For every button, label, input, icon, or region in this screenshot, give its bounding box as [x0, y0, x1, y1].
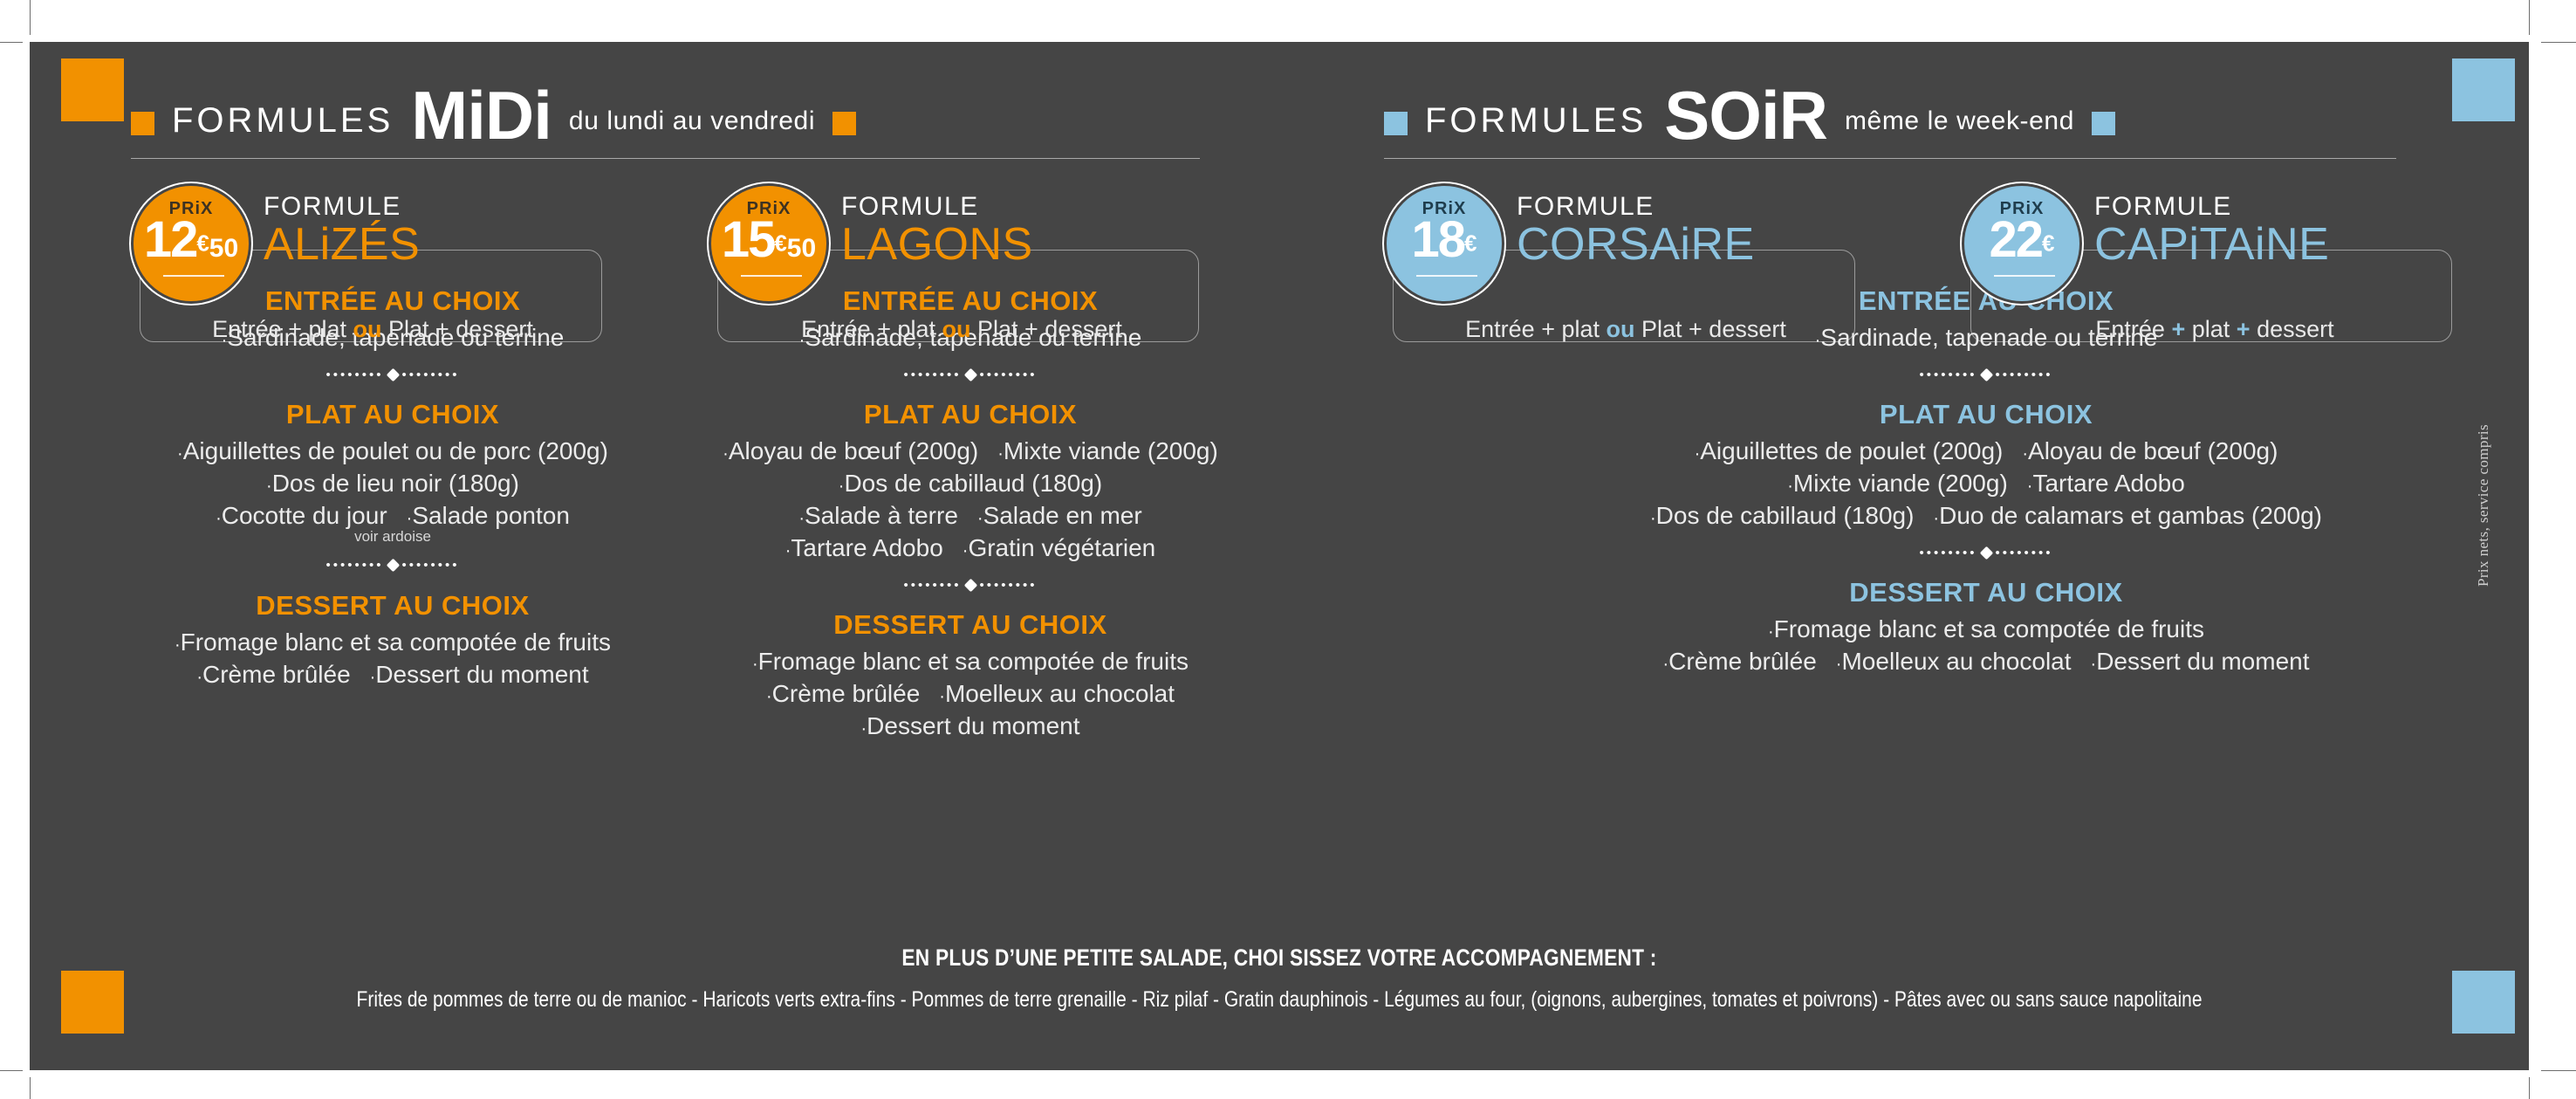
formula-card-title: FORMULE LAGONS [841, 192, 1033, 269]
menu-item: Salade en mer [983, 502, 1142, 529]
price-badge: PRiX 15€50 [709, 183, 829, 304]
menu-item-note: voir ardoise [131, 529, 654, 546]
menu-section-heading: PLAT AU CHOIX [131, 398, 654, 430]
divider-dots-right: •••••••• [1996, 546, 2053, 560]
divider-dots-right: •••••••• [980, 368, 1038, 381]
bullet-icon: · [216, 509, 222, 528]
menu-item: Cocotte du jour [222, 502, 387, 529]
menu-section-heading: DESSERT AU CHOIX [131, 589, 654, 622]
formula-label: FORMULE [2094, 192, 2329, 221]
price-badge-amount: 22€ [1964, 215, 2079, 265]
menu-column-alizes: ENTRÉE AU CHOIX·Sardinade, tapenade ou t… [131, 285, 654, 743]
menu-item: Dos de cabillaud (180g) [1656, 502, 1915, 529]
price-badge-underline [741, 275, 802, 277]
menu-line: ·Aiguillettes de poulet ou de porc (200g… [131, 436, 654, 468]
legal-note: Prix nets, service compris [2475, 377, 2492, 587]
square-marker-icon [1384, 112, 1408, 135]
bullet-icon: · [798, 509, 805, 528]
price-integer: 22 [1990, 211, 2043, 268]
formula-name: ALiZÉS [264, 221, 420, 269]
divider-lozenge-icon [963, 578, 977, 592]
square-marker-icon [2092, 112, 2115, 135]
menu-line: ·Fromage blanc et sa compotée de fruits [131, 627, 654, 659]
formula-desc-post: Plat + dessert [382, 316, 533, 342]
menu-section-heading: PLAT AU CHOIX [1435, 398, 2537, 430]
menu-line: ·Tartare Adobo·Gratin végétarien [709, 532, 1232, 565]
formula-card-title: FORMULE CAPiTAiNE [2094, 192, 2329, 269]
euro-icon: € [196, 230, 209, 257]
section-midi: FORMULES MiDi du lundi au vendredi PRiX … [131, 80, 1335, 743]
divider-dots-right: •••••••• [1996, 368, 2053, 381]
bullet-icon: · [1650, 509, 1656, 528]
divider-dots-right: •••••••• [402, 368, 460, 381]
formula-desc-mid: plat [2185, 316, 2237, 342]
menu-line: ·Crème brûlée·Moelleux au chocolat [709, 678, 1232, 711]
section-midi-title: MiDi [411, 86, 552, 145]
formula-card-title: FORMULE ALiZÉS [264, 192, 420, 269]
formula-desc-connector: ou [353, 316, 382, 342]
formula-name: LAGONS [841, 221, 1033, 269]
menu-item: Crème brûlée [202, 661, 351, 688]
divider-lozenge-icon [386, 559, 400, 573]
bullet-icon: · [723, 444, 729, 464]
section-soir-when: même le week-end [1845, 106, 2074, 136]
bullet-icon: · [177, 444, 183, 464]
crop-mark-top-left-v [30, 0, 31, 35]
menu-line: ·Fromage blanc et sa compotée de fruits [709, 646, 1232, 678]
square-marker-icon [131, 112, 154, 135]
menu-item: Dos de lieu noir (180g) [272, 470, 519, 497]
formula-desc-pre: Entrée [2095, 316, 2171, 342]
formula-desc-pre: Entrée + plat [1465, 316, 1606, 342]
section-midi-menus: ENTRÉE AU CHOIX·Sardinade, tapenade ou t… [131, 285, 1335, 743]
formula-description: Entrée + plat ou Plat + dessert [728, 316, 1196, 343]
formula-desc-post: Plat + dessert [1635, 316, 1786, 342]
divider-dots-left: •••••••• [903, 579, 961, 592]
menu-item: Salade à terre [805, 502, 958, 529]
section-soir-menus: ENTRÉE AU CHOIX·Sardinade, tapenade ou t… [1384, 285, 2576, 678]
divider-dots-left: •••••••• [325, 368, 383, 381]
section-soir: FORMULES SOiR même le week-end PRiX 18€ … [1384, 80, 2576, 678]
section-soir-title: SOiR [1664, 86, 1827, 145]
bullet-icon: · [977, 509, 983, 528]
formula-desc-connector: ou [942, 316, 971, 342]
formula-description: Entrée + plat + dessert [1981, 316, 2449, 343]
menu-item: Dessert du moment [867, 712, 1079, 739]
crop-mark-bottom-right-h [2541, 1070, 2576, 1071]
bullet-icon: · [939, 687, 945, 706]
formula-desc-pre: Entrée + plat [801, 316, 942, 342]
footer-title: EN PLUS D’UNE PETITE SALADE, CHOI SISSEZ… [230, 943, 2329, 973]
crop-mark-bottom-left-h [0, 1070, 23, 1071]
divider-lozenge-icon [1979, 367, 1993, 381]
section-soir-rule [1384, 158, 2396, 159]
section-divider-ornament: •••••••••••••••• [131, 551, 654, 580]
menu-section-heading: DESSERT AU CHOIX [1435, 576, 2537, 608]
menu-line: ·Crème brûlée·Dessert du moment [131, 659, 654, 691]
price-badge-amount: 12€50 [134, 215, 249, 265]
section-divider-ornament: •••••••••••••••• [131, 360, 654, 389]
menu-item: Fromage blanc et sa compotée de fruits [758, 648, 1189, 675]
formula-label: FORMULE [264, 192, 420, 221]
menu-item: Moelleux au chocolat [1841, 648, 2071, 675]
price-badge: PRiX 18€ [1384, 183, 1504, 304]
divider-lozenge-icon [386, 367, 400, 381]
bullet-icon: · [997, 444, 1004, 464]
divider-dots-left: •••••••• [1919, 546, 1977, 560]
corner-accent-top-left [61, 58, 124, 121]
formula-desc-plus-2: + [2237, 316, 2251, 342]
menu-item: Fromage blanc et sa compotée de fruits [181, 628, 611, 656]
square-marker-icon [832, 112, 856, 135]
menu-item: Duo de calamars et gambas (200g) [1939, 502, 2322, 529]
price-cents: 50 [209, 234, 238, 263]
menu-line: ·Dos de cabillaud (180g)·Duo de calamars… [1435, 500, 2537, 532]
price-badge: PRiX 22€ [1962, 183, 2082, 304]
formula-name: CORSAiRE [1517, 221, 1755, 269]
section-midi-when: du lundi au vendredi [569, 106, 815, 136]
section-midi-header: FORMULES MiDi du lundi au vendredi [131, 80, 1335, 145]
price-integer: 18 [1412, 211, 1465, 268]
price-badge: PRiX 12€50 [131, 183, 251, 304]
section-midi-formules-label: FORMULES [172, 103, 394, 138]
price-badge-amount: 18€ [1387, 215, 1502, 265]
price-integer: 12 [144, 211, 197, 268]
menu-line: ·Salade à terre·Salade en mer [709, 500, 1232, 532]
formula-label: FORMULE [1517, 192, 1755, 221]
menu-item: Salade ponton [412, 502, 570, 529]
crop-mark-bottom-left-v [30, 1077, 31, 1099]
formula-card-title: FORMULE CORSAiRE [1517, 192, 1755, 269]
price-badge-amount: 15€50 [711, 215, 826, 265]
menu-line: ·Mixte viande (200g)·Tartare Adobo [1435, 468, 2537, 500]
formula-description: Entrée + plat ou Plat + dessert [150, 316, 595, 343]
menu-section-heading: PLAT AU CHOIX [709, 398, 1232, 430]
euro-icon: € [2042, 230, 2054, 257]
crop-mark-top-left-h [0, 42, 23, 43]
bullet-icon: · [766, 687, 772, 706]
menu-item: Aloyau de bœuf (200g) [2028, 437, 2278, 464]
divider-dots-right: •••••••• [402, 559, 460, 572]
formula-desc-post: dessert [2251, 316, 2334, 342]
bullet-icon: · [196, 668, 202, 687]
bullet-icon: · [1787, 477, 1793, 496]
divider-dots-left: •••••••• [1919, 368, 1977, 381]
footer: EN PLUS D’UNE PETITE SALADE, CHOI SISSEZ… [30, 943, 2529, 1014]
section-soir-formules-label: FORMULES [1425, 103, 1647, 138]
menu-item: Gratin végétarien [968, 534, 1155, 561]
section-midi-rule [131, 158, 1200, 159]
bullet-icon: · [266, 477, 272, 496]
divider-dots-right: •••••••• [980, 579, 1038, 592]
formula-description: Entrée + plat ou Plat + dessert [1403, 316, 1848, 343]
formula-desc-connector: ou [1607, 316, 1635, 342]
divider-lozenge-icon [963, 367, 977, 381]
section-divider-ornament: •••••••••••••••• [1435, 538, 2537, 567]
formula-desc-plus-1: + [2171, 316, 2185, 342]
menu-item: Fromage blanc et sa compotée de fruits [1774, 615, 2204, 642]
menu-section-heading: DESSERT AU CHOIX [709, 608, 1232, 641]
menu-column-soir: ENTRÉE AU CHOIX·Sardinade, tapenade ou t… [1435, 285, 2537, 678]
footer-accompaniments: Frites de pommes de terre ou de manioc -… [230, 986, 2329, 1014]
divider-dots-left: •••••••• [325, 559, 383, 572]
menu-item: Mixte viande (200g) [1004, 437, 1218, 464]
menu-item: Dos de cabillaud (180g) [844, 470, 1102, 497]
menu-item: Aiguillettes de poulet (200g) [1700, 437, 2003, 464]
formula-name: CAPiTAiNE [2094, 221, 2329, 269]
bullet-icon: · [175, 635, 181, 655]
section-divider-ornament: •••••••••••••••• [709, 360, 1232, 389]
crop-mark-top-right-h [2541, 42, 2576, 43]
menu-item: Dessert du moment [375, 661, 588, 688]
section-divider-ornament: •••••••••••••••• [709, 570, 1232, 600]
formula-desc-pre: Entrée + plat [212, 316, 353, 342]
corner-accent-bottom-left [61, 971, 124, 1034]
menu-line: ·Dos de lieu noir (180g) [131, 468, 654, 500]
menu-line: ·Aloyau de bœuf (200g)·Mixte viande (200… [709, 436, 1232, 468]
price-cents: 50 [787, 234, 816, 263]
euro-icon: € [774, 230, 786, 257]
menu-item: Aloyau de bœuf (200g) [729, 437, 978, 464]
price-integer: 15 [722, 211, 775, 268]
menu-item: Crème brûlée [1668, 648, 1817, 675]
menu-item: Tartare Adobo [2032, 470, 2184, 497]
menu-item: Crème brûlée [772, 680, 921, 707]
menu-item: Aiguillettes de poulet ou de porc (200g) [183, 437, 608, 464]
divider-dots-left: •••••••• [903, 368, 961, 381]
menu-page: FORMULES MiDi du lundi au vendredi PRiX … [0, 0, 2576, 1099]
formula-desc-post: Plat + dessert [971, 316, 1122, 342]
menu-column-lagons: ENTRÉE AU CHOIX·Sardinade, tapenade ou t… [709, 285, 1232, 743]
corner-accent-top-right [2452, 58, 2515, 121]
divider-lozenge-icon [1979, 546, 1993, 560]
formula-label: FORMULE [841, 192, 1033, 221]
menu-line: ·Dos de cabillaud (180g) [709, 468, 1232, 500]
bullet-icon: · [752, 655, 758, 674]
crop-mark-top-right-v [2529, 0, 2530, 35]
bullet-icon: · [1768, 622, 1774, 642]
menu-line: ·Fromage blanc et sa compotée de fruits [1435, 614, 2537, 646]
menu-item: Moelleux au chocolat [945, 680, 1175, 707]
crop-mark-bottom-right-v [2529, 1077, 2530, 1099]
section-soir-header: FORMULES SOiR même le week-end [1384, 80, 2576, 145]
menu-line: ·Dessert du moment [709, 711, 1232, 743]
price-badge-underline [1416, 275, 1477, 277]
menu-item: Dessert du moment [2096, 648, 2309, 675]
euro-icon: € [1464, 230, 1476, 257]
menu-item: Tartare Adobo [791, 534, 942, 561]
menu-item: Mixte viande (200g) [1793, 470, 2008, 497]
menu-line: ·Aiguillettes de poulet (200g)·Aloyau de… [1435, 436, 2537, 468]
price-badge-underline [163, 275, 224, 277]
section-divider-ornament: •••••••••••••••• [1435, 360, 2537, 389]
corner-accent-bottom-right [2452, 971, 2515, 1034]
price-badge-underline [1994, 275, 2055, 277]
menu-line: ·Crème brûlée·Moelleux au chocolat·Desse… [1435, 646, 2537, 678]
